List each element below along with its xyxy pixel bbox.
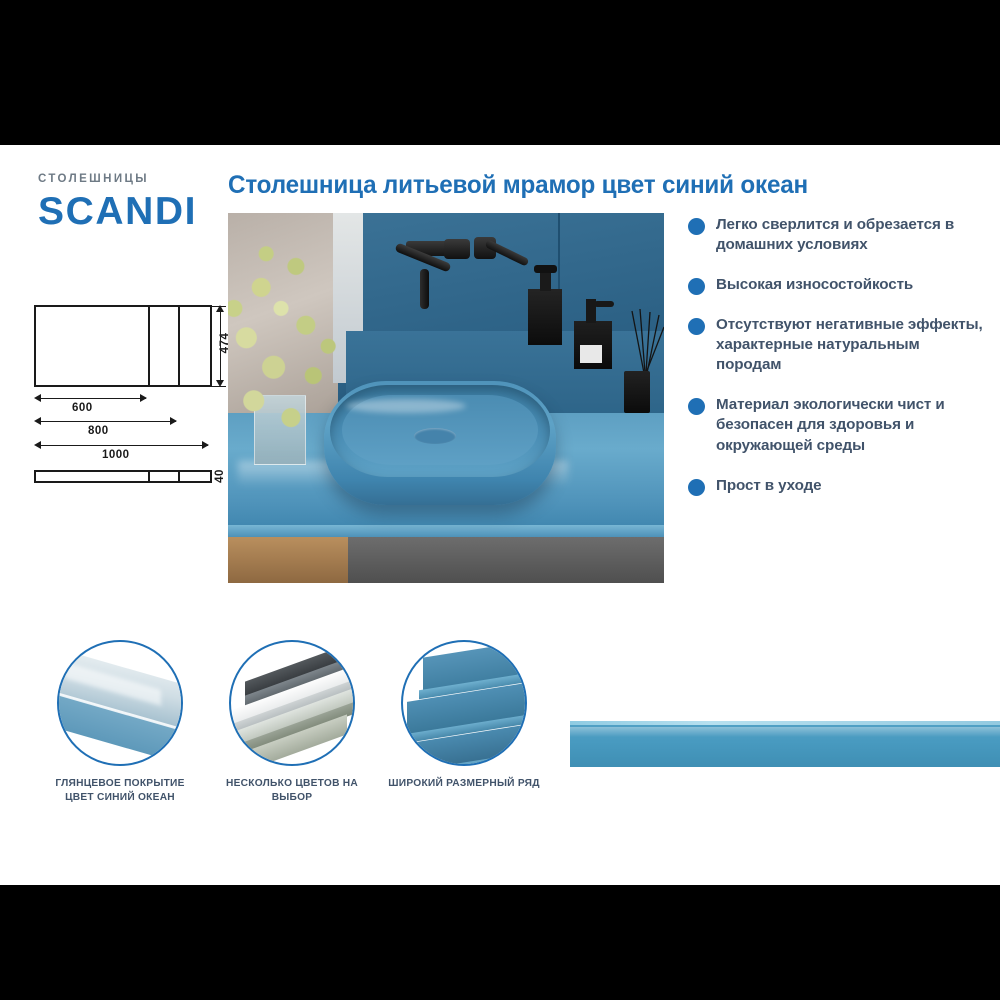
- dim-800-line: [38, 421, 176, 422]
- bullet-text: Прост в уходе: [716, 476, 822, 496]
- photo-cabinet-wood: [228, 537, 350, 583]
- drawing-divider-600: [148, 307, 150, 385]
- photo-cabinet-grey: [348, 537, 664, 583]
- bullet-dot-icon: [688, 318, 705, 335]
- bullet-text: Отсутствуют негативные эффекты, характер…: [716, 315, 984, 375]
- bullet-text: Высокая износостойкость: [716, 275, 913, 295]
- bullet-dot-icon: [688, 479, 705, 496]
- photo-sink-gloss: [346, 399, 466, 413]
- drawing-top-view: [34, 305, 212, 387]
- bullet-dot-icon: [688, 278, 705, 295]
- feature-highlights: ГЛЯНЦЕВОЕ ПОКРЫТИЕ ЦВЕТ СИНИЙ ОКЕАН НЕСК…: [40, 640, 560, 820]
- bullet-dot-icon: [688, 398, 705, 415]
- photo-faucet-neck: [420, 269, 429, 309]
- brand-kicker: СТОЛЕШНИЦЫ: [38, 173, 228, 185]
- drawing-side-divider-600: [148, 472, 150, 481]
- photo-reed-diffuser: [624, 371, 650, 413]
- list-item: Прост в уходе: [688, 476, 984, 496]
- dim-600-arrow-right: [140, 394, 147, 402]
- dim-600-arrow-left: [34, 394, 41, 402]
- photo-soap-spout-2: [594, 301, 614, 307]
- photo-plant: [228, 237, 348, 447]
- list-item: Легко сверлится и обрезается в домашних …: [688, 215, 984, 255]
- feature-caption: ГЛЯНЦЕВОЕ ПОКРЫТИЕ ЦВЕТ СИНИЙ ОКЕАН: [40, 777, 200, 805]
- bullet-text: Легко сверлится и обрезается в домашних …: [716, 215, 984, 255]
- infographic-stage: СТОЛЕШНИЦЫ SCANDI Столешница литьевой мр…: [0, 0, 1000, 1000]
- feature-caption: ШИРОКИЙ РАЗМЕРНЫЙ РЯД: [384, 777, 544, 791]
- dim-600-label: 600: [72, 402, 93, 414]
- letterbox-top: [0, 0, 1000, 145]
- drawing-side-view: [34, 470, 212, 483]
- feature-caption: НЕСКОЛЬКО ЦВЕТОВ НА ВЫБОР: [212, 777, 372, 805]
- benefits-list: Легко сверлится и обрезается в домашних …: [688, 215, 984, 516]
- dim-1000-arrow-right: [202, 441, 209, 449]
- dim-800-label: 800: [88, 425, 109, 437]
- hero-slab-front-gloss: [570, 727, 1000, 737]
- list-item: Материал экологически чист и безопасен д…: [688, 395, 984, 455]
- letterbox-bottom: [0, 885, 1000, 1000]
- drawing-side-divider-800: [178, 472, 180, 481]
- dim-474-tick-top: [212, 306, 226, 307]
- feature-color-options: НЕСКОЛЬКО ЦВЕТОВ НА ВЫБОР: [212, 640, 372, 805]
- list-item: Отсутствуют негативные эффекты, характер…: [688, 315, 984, 375]
- dim-800-arrow-left: [34, 417, 41, 425]
- dim-40-label: 40: [214, 461, 226, 491]
- dim-474-tick-bottom: [212, 386, 226, 387]
- feature-circle-image-3: [401, 640, 527, 766]
- feature-circle-image-2: [229, 640, 355, 766]
- drawing-divider-800: [178, 307, 180, 385]
- bullet-dot-icon: [688, 218, 705, 235]
- dim-1000-label: 1000: [102, 449, 130, 461]
- feature-size-range: ШИРОКИЙ РАЗМЕРНЫЙ РЯД: [384, 640, 544, 791]
- photo-reed-sticks-icon: [626, 309, 664, 373]
- photo-soap-label-2: [580, 345, 602, 363]
- photo-soap-bottle-1: [528, 289, 562, 345]
- dim-1000-line: [38, 445, 208, 446]
- brand-name: SCANDI: [38, 192, 228, 232]
- dim-1000-arrow-left: [34, 441, 41, 449]
- hero-slab-render: [570, 595, 1000, 825]
- dim-800-arrow-right: [170, 417, 177, 425]
- bullet-text: Материал экологически чист и безопасен д…: [716, 395, 984, 455]
- list-item: Высокая износостойкость: [688, 275, 984, 295]
- page-title: Столешница литьевой мрамор цвет синий ок…: [228, 171, 946, 200]
- brand-logo: СТОЛЕШНИЦЫ SCANDI: [38, 173, 228, 232]
- photo-sink-drain: [414, 428, 456, 444]
- feature-circle-image-1: [57, 640, 183, 766]
- dim-600-line: [38, 398, 146, 399]
- photo-soap-cap-1: [534, 265, 557, 273]
- photo-faucet-knob: [444, 239, 470, 259]
- infographic-canvas: СТОЛЕШНИЦЫ SCANDI Столешница литьевой мр…: [0, 145, 1000, 885]
- feature-glossy-finish: ГЛЯНЦЕВОЕ ПОКРЫТИЕ ЦВЕТ СИНИЙ ОКЕАН: [40, 640, 200, 805]
- technical-drawing: 474 600 800 1000 40: [30, 295, 230, 505]
- product-photo: [228, 213, 664, 583]
